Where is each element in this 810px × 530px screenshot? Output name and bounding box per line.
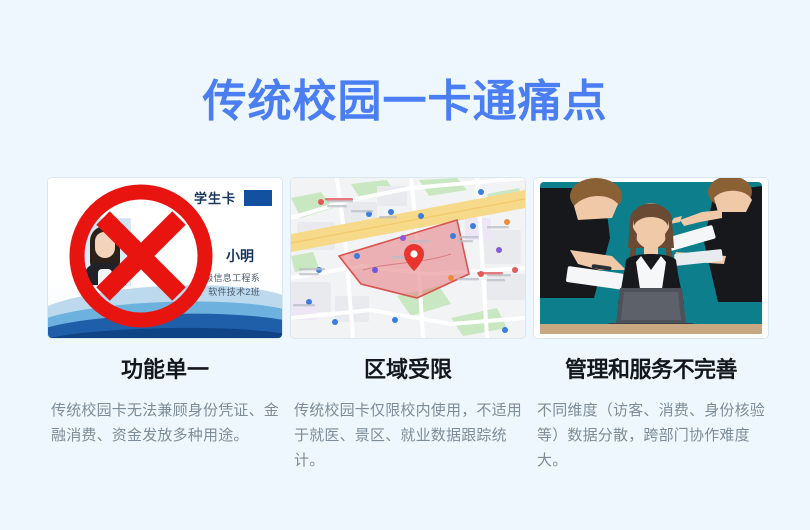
pain-point-card-feature-limited: 学生卡 小明 23级信息工程系 软件技术2班 <box>48 178 282 473</box>
laptop <box>608 288 694 329</box>
thumbnail-office-illustration <box>534 178 768 338</box>
photo-collar <box>98 269 112 285</box>
desk <box>540 324 762 334</box>
pain-point-columns: 学生卡 小明 23级信息工程系 软件技术2班 <box>0 178 810 473</box>
thumbnail-map <box>291 178 525 338</box>
student-card-title: 学生卡 <box>194 188 236 207</box>
map-graphic <box>291 178 525 338</box>
column-body-text: 传统校园卡仅限校内使用，不适用于就医、景区、就业数据跟踪统计。 <box>294 398 522 473</box>
column-heading: 区域受限 <box>364 356 452 384</box>
pain-point-card-area-restricted: 区域受限 传统校园卡仅限校内使用，不适用于就医、景区、就业数据跟踪统计。 <box>291 178 525 473</box>
student-name: 小明 <box>226 246 254 266</box>
office-svg <box>534 178 768 338</box>
student-id-card-graphic: 学生卡 小明 23级信息工程系 软件技术2班 <box>48 178 282 338</box>
card-corner-block <box>244 190 272 206</box>
column-body-text: 传统校园卡无法兼顾身份凭证、金融消费、资金发放多种用途。 <box>51 398 279 448</box>
thumbnail-student-id-card: 学生卡 小明 23级信息工程系 软件技术2班 <box>48 178 282 338</box>
student-class: 软件技术2班 <box>208 285 260 298</box>
column-heading: 功能单一 <box>121 356 209 384</box>
column-heading: 管理和服务不完善 <box>565 356 737 384</box>
pain-point-card-management-incomplete: 管理和服务不完善 不同维度（访客、消费、身份核验等）数据分散，跨部门协作难度大。 <box>534 178 768 473</box>
page-title: 传统校园一卡通痛点 <box>0 76 810 128</box>
column-body-text: 不同维度（访客、消费、身份核验等）数据分散，跨部门协作难度大。 <box>537 398 765 473</box>
student-department: 23级信息工程系 <box>194 271 260 284</box>
office-illustration-graphic <box>534 178 768 338</box>
map-svg <box>291 178 525 338</box>
student-photo <box>79 218 131 286</box>
photo-face <box>95 232 115 258</box>
slide-canvas: 传统校园一卡通痛点 学生卡 小明 <box>0 0 810 530</box>
